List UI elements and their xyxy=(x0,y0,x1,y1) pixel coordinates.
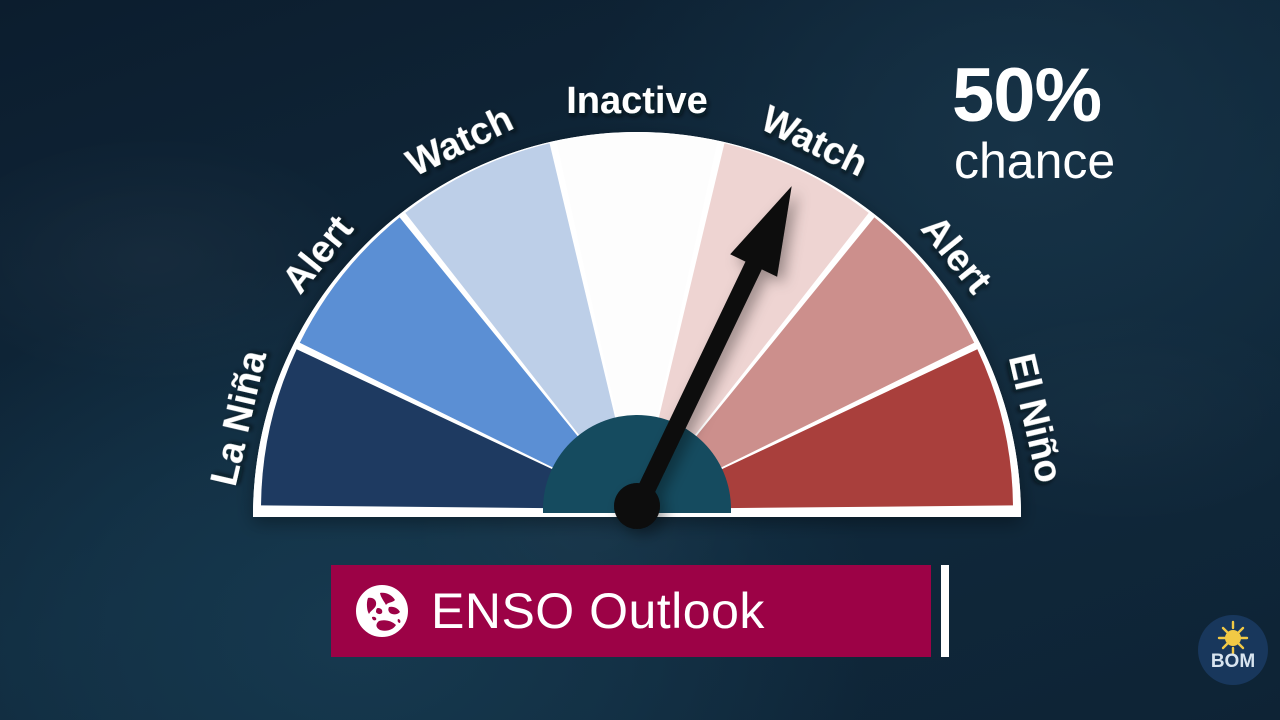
enso-outlook-graphic: La NiñaAlertWatchInactiveWatchAlertEl Ni… xyxy=(0,0,1280,720)
chance-percent: 50% xyxy=(952,58,1182,134)
globe-icon xyxy=(355,584,409,638)
bom-logo-text: BOM xyxy=(1211,651,1255,672)
chance-readout: 50% chance xyxy=(952,58,1182,186)
needle-pivot xyxy=(614,483,660,529)
chance-label: chance xyxy=(954,136,1182,186)
enso-outlook-banner: ENSO Outlook xyxy=(331,565,931,657)
gauge-sector-label: Inactive xyxy=(566,80,708,122)
banner-caret xyxy=(941,565,949,657)
bom-logo: BOM xyxy=(1196,613,1270,687)
banner-title: ENSO Outlook xyxy=(431,582,765,640)
